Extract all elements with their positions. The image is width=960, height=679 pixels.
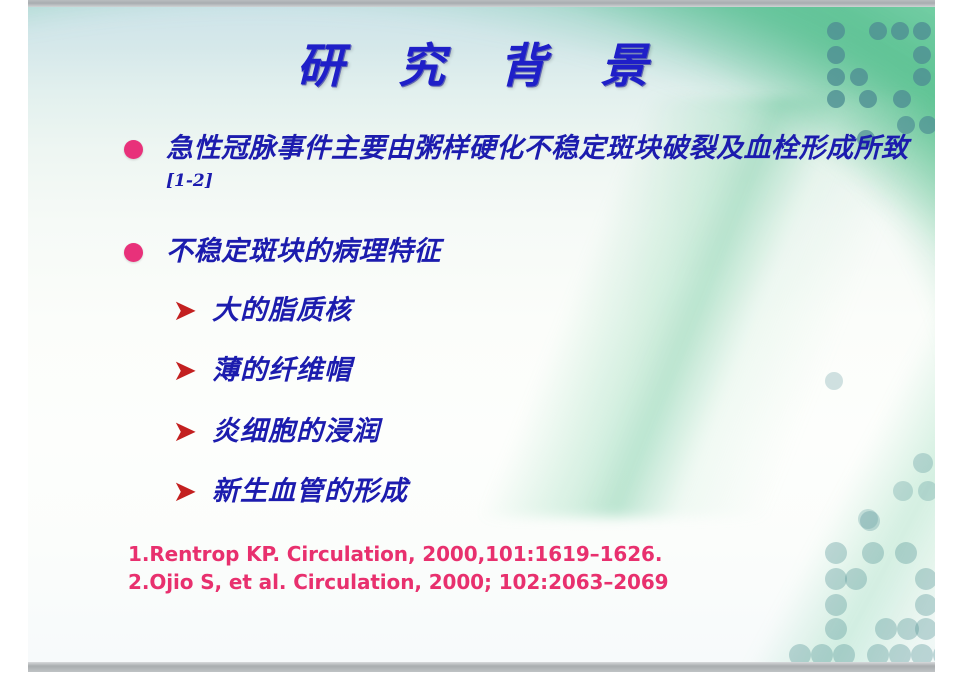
sub-bullet-item: ➤ 大的脂质核 <box>120 293 920 329</box>
window-chrome-top-bar <box>28 0 935 7</box>
sub-bullet-item: ➤ 炎细胞的浸润 <box>120 414 920 450</box>
arrow-bullet-icon: ➤ <box>174 355 197 389</box>
decorative-dot <box>811 644 833 662</box>
bullet-text: 急性冠脉事件主要由粥样硬化不稳定斑块破裂及血栓形成所致 <box>166 133 909 164</box>
decorative-dot <box>825 594 847 616</box>
decorative-dot <box>860 511 880 531</box>
decorative-dot <box>915 618 935 640</box>
decorative-dot <box>918 481 935 501</box>
arrow-bullet-icon: ➤ <box>174 416 197 450</box>
decorative-dot <box>833 644 855 662</box>
sub-bullet-text: 炎细胞的浸润 <box>212 416 380 447</box>
sub-bullet-item: ➤ 薄的纤维帽 <box>120 353 920 389</box>
decorative-dot <box>789 644 811 662</box>
decorative-dot <box>867 644 889 662</box>
reference-item: 2.Ojio S, et al. Circulation, 2000; 102:… <box>128 569 888 597</box>
slide-title: 研 究 背 景 <box>28 27 935 96</box>
decorative-dot <box>915 594 935 616</box>
bullet-text: 不稳定斑块的病理特征 <box>166 236 441 267</box>
decorative-dot <box>875 618 897 640</box>
slide-body: 急性冠脉事件主要由粥样硬化不稳定斑块破裂及血栓形成所致[1-2] 不稳定斑块的病… <box>120 129 920 510</box>
decorative-dot <box>933 644 935 662</box>
bullet-item: 不稳定斑块的病理特征 <box>120 232 920 271</box>
sub-bullet-text: 大的脂质核 <box>212 295 352 326</box>
bullet-superscript: [1-2] <box>166 171 213 191</box>
decorative-dot <box>915 568 935 590</box>
decorative-dot <box>825 618 847 640</box>
decorative-dot <box>889 644 911 662</box>
slide-canvas: 研 究 背 景 急性冠脉事件主要由粥样硬化不稳定斑块破裂及血栓形成所致[1-2]… <box>28 7 935 662</box>
disc-bullet-icon <box>124 243 143 262</box>
arrow-bullet-icon: ➤ <box>174 476 197 510</box>
decorative-dot <box>895 542 917 564</box>
decorative-dot <box>919 116 935 134</box>
arrow-bullet-icon: ➤ <box>174 295 197 329</box>
reference-item: 1.Rentrop KP. Circulation, 2000,101:1619… <box>128 541 888 569</box>
disc-bullet-icon <box>124 140 143 159</box>
window-chrome-bottom-bar <box>28 662 935 672</box>
bullet-item: 急性冠脉事件主要由粥样硬化不稳定斑块破裂及血栓形成所致[1-2] <box>120 129 920 208</box>
sub-bullet-text: 新生血管的形成 <box>212 476 408 507</box>
reference-list: 1.Rentrop KP. Circulation, 2000,101:1619… <box>128 541 888 596</box>
sub-bullet-item: ➤ 新生血管的形成 <box>120 474 920 510</box>
decorative-dot <box>911 644 933 662</box>
sub-bullet-text: 薄的纤维帽 <box>212 355 352 386</box>
slide-root: 研 究 背 景 急性冠脉事件主要由粥样硬化不稳定斑块破裂及血栓形成所致[1-2]… <box>0 0 960 679</box>
